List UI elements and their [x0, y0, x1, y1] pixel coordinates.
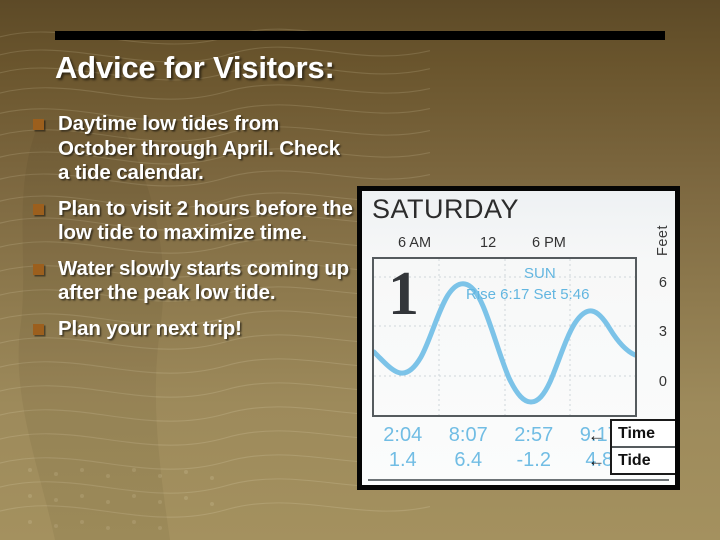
tide-chart-figure: SATURDAY 6 AM 12 6 PM Feet 6 3 0 [357, 186, 680, 490]
y-axis-label: Feet [655, 225, 671, 256]
bullet-square-icon [33, 119, 44, 130]
time-cell: 8:07 [436, 423, 502, 448]
sun-rise-set-text: Rise 6:17 Set 5:46 [466, 286, 589, 303]
sun-label: SUN [524, 265, 556, 282]
bullet-text: Daytime low tides from October through A… [58, 112, 353, 186]
time-cell: 2:57 [501, 423, 567, 448]
day-number: 1 [388, 263, 419, 325]
tide-plot-area: 1 SUN Rise 6:17 Set 5:46 [372, 257, 637, 417]
bullet-list: Daytime low tides from October through A… [33, 112, 353, 352]
x-tick-label: 12 [480, 235, 496, 251]
x-tick-label: 6 PM [532, 235, 566, 251]
list-item: Water slowly starts coming up after the … [33, 257, 353, 306]
bullet-square-icon [33, 264, 44, 275]
bullet-text: Plan to visit 2 hours before the low tid… [58, 197, 353, 246]
bullet-square-icon [33, 204, 44, 215]
tide-cell: -1.2 [501, 448, 567, 473]
page-title: Advice for Visitors: [55, 50, 675, 86]
legend-label-time: Time [612, 421, 675, 446]
list-item: Daytime low tides from October through A… [33, 112, 353, 186]
x-tick-label: 6 AM [398, 235, 431, 251]
tide-cell: 1.4 [370, 448, 436, 473]
title-accent-bar [55, 31, 665, 40]
y-tick-label: 6 [659, 275, 667, 291]
bullet-text: Water slowly starts coming up after the … [58, 257, 353, 306]
callout-arrow-icon: ← [588, 427, 605, 444]
y-tick-label: 0 [659, 374, 667, 390]
figure-baseline-rule [368, 479, 669, 481]
list-item: Plan your next trip! [33, 317, 353, 342]
tide-cell: 6.4 [436, 448, 502, 473]
bullet-text: Plan your next trip! [58, 317, 353, 342]
y-tick-label: 3 [659, 324, 667, 340]
slide: Advice for Visitors: Daytime low tides f… [0, 0, 720, 540]
list-item: Plan to visit 2 hours before the low tid… [33, 197, 353, 246]
bullet-square-icon [33, 324, 44, 335]
legend-label-tide: Tide [612, 446, 675, 473]
legend-callout-box: Time Tide [610, 419, 675, 475]
chart-title: SATURDAY [372, 194, 519, 225]
time-cell: 2:04 [370, 423, 436, 448]
tide-chart-canvas: SATURDAY 6 AM 12 6 PM Feet 6 3 0 [362, 191, 675, 485]
callout-arrow-icon: ← [588, 452, 605, 469]
